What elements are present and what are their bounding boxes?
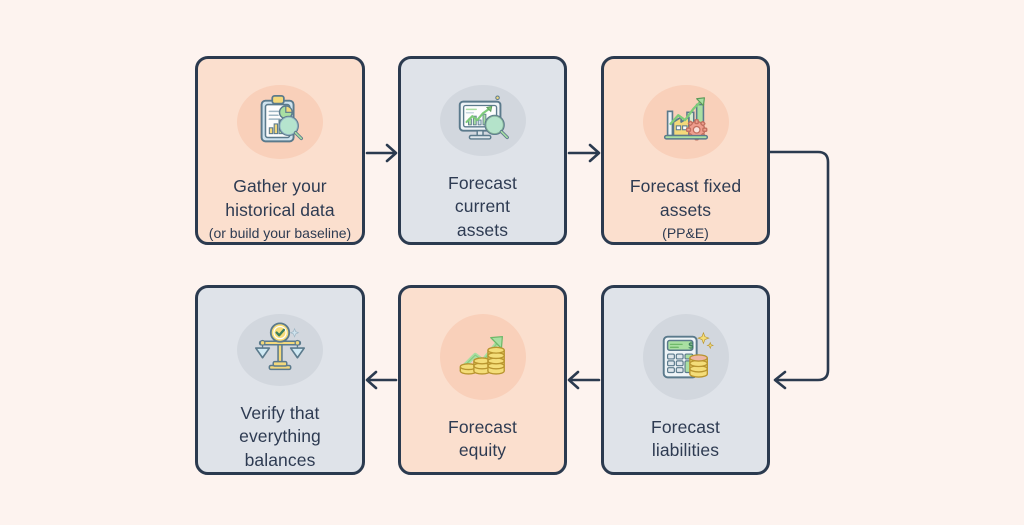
step-label-line2: liabilities [652, 440, 719, 460]
step-node-forecast-liabilities[interactable]: $ [601, 285, 770, 475]
step-label-line2: assets [660, 200, 711, 220]
step-label-line2: historical data [225, 200, 334, 220]
step-label-line2: equity [459, 440, 506, 460]
arrow-step2-to-step3 [567, 137, 603, 169]
balance-scales-check-icon [237, 314, 323, 386]
step-label: Verify that everything balances [231, 402, 329, 472]
step-label-line3: balances [245, 450, 316, 470]
step-sublabel: (PP&E) [662, 224, 709, 242]
clipboard-chart-magnifier-icon [237, 85, 323, 159]
step-label-line3: assets [457, 220, 508, 240]
arrow-step5-to-step6 [363, 364, 400, 396]
arrow-step4-to-step5 [565, 364, 603, 396]
step-label-line1: Forecast fixed [630, 176, 741, 196]
calculator-coins-icon: $ [643, 314, 729, 400]
step-label-line2: current [455, 196, 510, 216]
arrow-step3-to-step4 [766, 138, 846, 398]
step-node-gather-historical-data[interactable]: Gather your historical data (or build yo… [195, 56, 365, 245]
step-label-line1: Forecast [448, 417, 517, 437]
step-label-line2: everything [239, 426, 321, 446]
flowchart-canvas: Gather your historical data (or build yo… [0, 0, 1024, 525]
step-label: Forecast liabilities [643, 416, 728, 463]
coin-stacks-growth-arrow-icon [440, 314, 526, 400]
step-node-forecast-fixed-assets[interactable]: Forecast fixed assets (PP&E) [601, 56, 770, 245]
step-node-verify-everything-balances[interactable]: Verify that everything balances [195, 285, 365, 475]
step-label-line1: Verify that [241, 403, 320, 423]
step-sublabel: (or build your baseline) [209, 224, 351, 242]
arrow-step1-to-step2 [365, 137, 400, 169]
factory-growth-gear-icon [643, 85, 729, 159]
step-label: Forecast equity [440, 416, 525, 463]
step-node-forecast-equity[interactable]: Forecast equity [398, 285, 567, 475]
monitor-growth-chart-magnifier-icon [440, 85, 526, 156]
step-label: Forecast fixed assets [622, 175, 749, 222]
step-label-line1: Forecast [651, 417, 720, 437]
step-label-line1: Gather your [233, 176, 327, 196]
step-label-line1: Forecast [448, 173, 517, 193]
step-label: Forecast current assets [440, 172, 525, 242]
step-node-forecast-current-assets[interactable]: Forecast current assets [398, 56, 567, 245]
step-label: Gather your historical data [217, 175, 342, 222]
svg-text:$: $ [687, 341, 693, 351]
